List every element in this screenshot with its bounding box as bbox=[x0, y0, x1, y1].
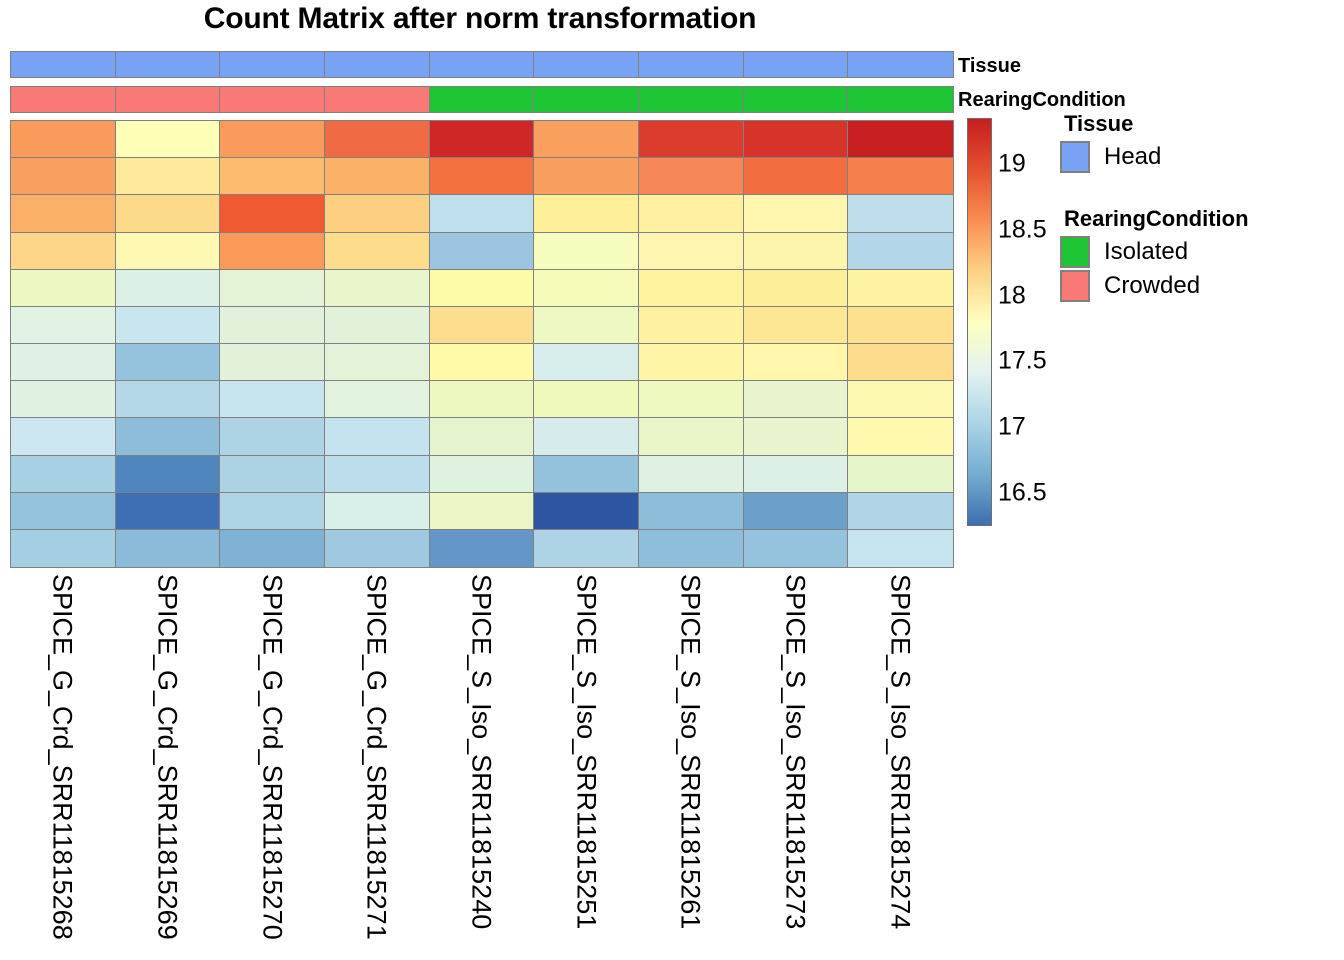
legend-rearing-condition: RearingCondition IsolatedCrowded bbox=[1060, 208, 1249, 303]
heatmap-cell bbox=[219, 120, 325, 159]
heatmap-row bbox=[10, 455, 952, 494]
heatmap-cell bbox=[743, 343, 849, 382]
colorbar bbox=[967, 118, 992, 526]
heatmap-cell bbox=[847, 269, 953, 308]
colorbar-tick-label: 17 bbox=[998, 415, 1026, 440]
heatmap-cell bbox=[638, 380, 744, 419]
heatmap-cell bbox=[847, 529, 953, 568]
heatmap-cell bbox=[324, 529, 430, 568]
column-label: SPICE_G_Crd_SRR11815271 bbox=[363, 574, 390, 940]
heatmap-cell bbox=[743, 194, 849, 233]
heatmap-cell bbox=[115, 157, 221, 196]
heatmap-cell bbox=[533, 269, 639, 308]
heatmap-cell bbox=[638, 306, 744, 345]
heatmap-cell bbox=[638, 232, 744, 271]
legend-item-tissue[interactable]: Head bbox=[1060, 140, 1161, 174]
annotation-cell-rearing-condition bbox=[743, 86, 849, 113]
annotation-cell-tissue bbox=[324, 51, 430, 78]
heatmap-cell bbox=[533, 529, 639, 568]
legend-title-rearing-condition: RearingCondition bbox=[1064, 208, 1249, 230]
heatmap-cell bbox=[743, 417, 849, 456]
annotation-cell-rearing-condition bbox=[533, 86, 639, 113]
legend-swatch-icon bbox=[1060, 270, 1090, 302]
column-label: SPICE_G_Crd_SRR11815268 bbox=[49, 574, 76, 940]
column-label: SPICE_S_Iso_SRR11815261 bbox=[677, 574, 704, 929]
heatmap-cell bbox=[743, 232, 849, 271]
heatmap-cell bbox=[533, 120, 639, 159]
heatmap-cell bbox=[10, 269, 116, 308]
legend-title-tissue: Tissue bbox=[1064, 113, 1161, 135]
heatmap-cell bbox=[429, 194, 535, 233]
heatmap-cell bbox=[115, 380, 221, 419]
heatmap-cell bbox=[638, 269, 744, 308]
annotation-cell-rearing-condition bbox=[10, 86, 116, 113]
heatmap-cell bbox=[743, 157, 849, 196]
heatmap-row bbox=[10, 306, 952, 345]
heatmap-cell bbox=[638, 529, 744, 568]
heatmap-cell bbox=[429, 157, 535, 196]
heatmap-cell bbox=[10, 455, 116, 494]
column-label: SPICE_S_Iso_SRR11815273 bbox=[782, 574, 809, 929]
heatmap-row bbox=[10, 194, 952, 233]
heatmap-cell bbox=[638, 417, 744, 456]
heatmap-cell-grid bbox=[10, 120, 952, 566]
colorbar-tick-label: 17.5 bbox=[998, 349, 1047, 374]
column-label-slot: SPICE_S_Iso_SRR11815273 bbox=[743, 570, 848, 956]
heatmap-cell bbox=[847, 157, 953, 196]
heatmap-cell bbox=[115, 306, 221, 345]
heatmap-cell bbox=[429, 306, 535, 345]
heatmap-cell bbox=[10, 157, 116, 196]
page-title: Count Matrix after norm transformation bbox=[0, 2, 960, 36]
heatmap-row bbox=[10, 269, 952, 308]
legend-item-label: Head bbox=[1104, 145, 1161, 169]
heatmap-cell bbox=[638, 194, 744, 233]
legend-item-label: Isolated bbox=[1104, 240, 1188, 264]
heatmap-row bbox=[10, 380, 952, 419]
column-label: SPICE_S_Iso_SRR11815274 bbox=[886, 574, 913, 929]
heatmap-row bbox=[10, 417, 952, 456]
heatmap-cell bbox=[429, 380, 535, 419]
legend-item-rearing-condition[interactable]: Isolated bbox=[1060, 235, 1249, 269]
heatmap-cell bbox=[10, 529, 116, 568]
column-label: SPICE_G_Crd_SRR11815269 bbox=[154, 574, 181, 940]
annotation-cell-tissue bbox=[743, 51, 849, 78]
legend-tissue: Tissue Head bbox=[1060, 113, 1161, 174]
heatmap-cell bbox=[219, 306, 325, 345]
annotation-cell-rearing-condition bbox=[429, 86, 535, 113]
annotation-cell-tissue bbox=[429, 51, 535, 78]
heatmap-cell bbox=[219, 529, 325, 568]
annotation-cell-tissue bbox=[115, 51, 221, 78]
heatmap-cell bbox=[429, 455, 535, 494]
legend-item-rearing-condition[interactable]: Crowded bbox=[1060, 269, 1249, 303]
colorbar-gradient bbox=[967, 118, 992, 526]
annotation-bar-tissue bbox=[10, 51, 952, 78]
column-label-slot: SPICE_S_Iso_SRR11815261 bbox=[638, 570, 743, 956]
legend-items-rearing-condition: IsolatedCrowded bbox=[1060, 235, 1249, 303]
heatmap-cell bbox=[115, 194, 221, 233]
heatmap-cell bbox=[847, 343, 953, 382]
column-label-slot: SPICE_G_Crd_SRR11815270 bbox=[219, 570, 324, 956]
heatmap-cell bbox=[324, 157, 430, 196]
heatmap-cell bbox=[743, 120, 849, 159]
heatmap-cell bbox=[638, 157, 744, 196]
heatmap-cell bbox=[638, 120, 744, 159]
column-label-slot: SPICE_S_Iso_SRR11815274 bbox=[847, 570, 952, 956]
heatmap-column-labels: SPICE_G_Crd_SRR11815268SPICE_G_Crd_SRR11… bbox=[10, 570, 952, 956]
heatmap-cell bbox=[219, 380, 325, 419]
heatmap-row bbox=[10, 232, 952, 271]
annotation-label-tissue: Tissue bbox=[958, 56, 1021, 76]
annotation-cell-tissue bbox=[847, 51, 953, 78]
legend-swatch-icon bbox=[1060, 141, 1090, 173]
heatmap-cell bbox=[533, 455, 639, 494]
colorbar-tick-label: 19 bbox=[998, 152, 1026, 177]
heatmap-cell bbox=[429, 269, 535, 308]
annotation-bar-rearing-condition bbox=[10, 86, 952, 113]
legend-items-tissue: Head bbox=[1060, 140, 1161, 174]
heatmap-cell bbox=[847, 455, 953, 494]
annotation-cell-rearing-condition bbox=[847, 86, 953, 113]
heatmap-cell bbox=[115, 269, 221, 308]
heatmap-cell bbox=[324, 306, 430, 345]
heatmap-cell bbox=[533, 306, 639, 345]
heatmap-cell bbox=[219, 343, 325, 382]
heatmap-cell bbox=[10, 120, 116, 159]
heatmap-cell bbox=[743, 529, 849, 568]
colorbar-tick-label: 18 bbox=[998, 283, 1026, 308]
heatmap-cell bbox=[219, 157, 325, 196]
heatmap-cell bbox=[324, 417, 430, 456]
annotation-cell-rearing-condition bbox=[115, 86, 221, 113]
annotation-cell-tissue bbox=[638, 51, 744, 78]
heatmap-cell bbox=[115, 492, 221, 531]
heatmap-cell bbox=[638, 455, 744, 494]
heatmap-cell bbox=[219, 269, 325, 308]
heatmap-cell bbox=[533, 157, 639, 196]
annotation-cell-tissue bbox=[10, 51, 116, 78]
heatmap-cell bbox=[743, 269, 849, 308]
legend-item-label: Crowded bbox=[1104, 274, 1200, 298]
heatmap-cell bbox=[429, 232, 535, 271]
heatmap-cell bbox=[743, 306, 849, 345]
heatmap-cell bbox=[115, 529, 221, 568]
heatmap-cell bbox=[533, 232, 639, 271]
annotation-cell-tissue bbox=[533, 51, 639, 78]
heatmap-cell bbox=[10, 380, 116, 419]
column-label-slot: SPICE_G_Crd_SRR11815268 bbox=[10, 570, 115, 956]
heatmap-cell bbox=[115, 455, 221, 494]
heatmap-cell bbox=[847, 232, 953, 271]
heatmap-cell bbox=[115, 120, 221, 159]
heatmap-cell bbox=[429, 417, 535, 456]
column-label-slot: SPICE_G_Crd_SRR11815269 bbox=[115, 570, 220, 956]
heatmap-cell bbox=[638, 343, 744, 382]
heatmap-cell bbox=[847, 380, 953, 419]
heatmap-cell bbox=[743, 492, 849, 531]
heatmap-cell bbox=[324, 492, 430, 531]
heatmap-cell bbox=[429, 529, 535, 568]
heatmap-cell bbox=[533, 380, 639, 419]
colorbar-tick-label: 16.5 bbox=[998, 481, 1047, 506]
heatmap-cell bbox=[219, 417, 325, 456]
heatmap-cell bbox=[324, 120, 430, 159]
heatmap-cell bbox=[847, 120, 953, 159]
heatmap-cell bbox=[533, 343, 639, 382]
heatmap-cell bbox=[429, 120, 535, 159]
heatmap-cell bbox=[847, 306, 953, 345]
heatmap-cell bbox=[324, 194, 430, 233]
heatmap-cell bbox=[533, 492, 639, 531]
annotation-label-rearing-condition: RearingCondition bbox=[958, 90, 1126, 110]
heatmap-row bbox=[10, 529, 952, 568]
heatmap-cell bbox=[847, 194, 953, 233]
heatmap-row bbox=[10, 120, 952, 159]
heatmap-cell bbox=[847, 492, 953, 531]
column-label: SPICE_S_Iso_SRR11815240 bbox=[468, 574, 495, 929]
heatmap-cell bbox=[324, 232, 430, 271]
heatmap-plot: Count Matrix after norm transformation T… bbox=[0, 0, 1344, 960]
heatmap-cell bbox=[219, 492, 325, 531]
heatmap-cell bbox=[533, 417, 639, 456]
heatmap-cell bbox=[429, 492, 535, 531]
annotation-cell-tissue bbox=[219, 51, 325, 78]
column-label-slot: SPICE_S_Iso_SRR11815251 bbox=[533, 570, 638, 956]
column-label-slot: SPICE_S_Iso_SRR11815240 bbox=[429, 570, 534, 956]
legend-swatch-icon bbox=[1060, 236, 1090, 268]
heatmap-cell bbox=[743, 380, 849, 419]
heatmap-cell bbox=[847, 417, 953, 456]
heatmap-cell bbox=[115, 232, 221, 271]
annotation-cell-rearing-condition bbox=[324, 86, 430, 113]
heatmap-cell bbox=[10, 232, 116, 271]
heatmap-cell bbox=[10, 194, 116, 233]
heatmap-cell bbox=[219, 232, 325, 271]
column-label-slot: SPICE_G_Crd_SRR11815271 bbox=[324, 570, 429, 956]
heatmap-cell bbox=[324, 343, 430, 382]
heatmap-cell bbox=[10, 417, 116, 456]
column-label: SPICE_G_Crd_SRR11815270 bbox=[258, 574, 285, 940]
heatmap-cell bbox=[115, 343, 221, 382]
annotation-cell-rearing-condition bbox=[638, 86, 744, 113]
heatmap-cell bbox=[743, 455, 849, 494]
heatmap-row bbox=[10, 157, 952, 196]
heatmap-cell bbox=[10, 492, 116, 531]
column-label: SPICE_S_Iso_SRR11815251 bbox=[572, 574, 599, 929]
heatmap-cell bbox=[219, 194, 325, 233]
heatmap-cell bbox=[324, 269, 430, 308]
heatmap-cell bbox=[115, 417, 221, 456]
heatmap-cell bbox=[10, 343, 116, 382]
annotation-cell-rearing-condition bbox=[219, 86, 325, 113]
heatmap-cell bbox=[10, 306, 116, 345]
heatmap-cell bbox=[429, 343, 535, 382]
heatmap-cell bbox=[533, 194, 639, 233]
heatmap-cell bbox=[324, 455, 430, 494]
heatmap-row bbox=[10, 492, 952, 531]
heatmap-cell bbox=[638, 492, 744, 531]
heatmap-cell bbox=[219, 455, 325, 494]
heatmap-cell bbox=[324, 380, 430, 419]
colorbar-tick-label: 18.5 bbox=[998, 217, 1047, 242]
heatmap-row bbox=[10, 343, 952, 382]
